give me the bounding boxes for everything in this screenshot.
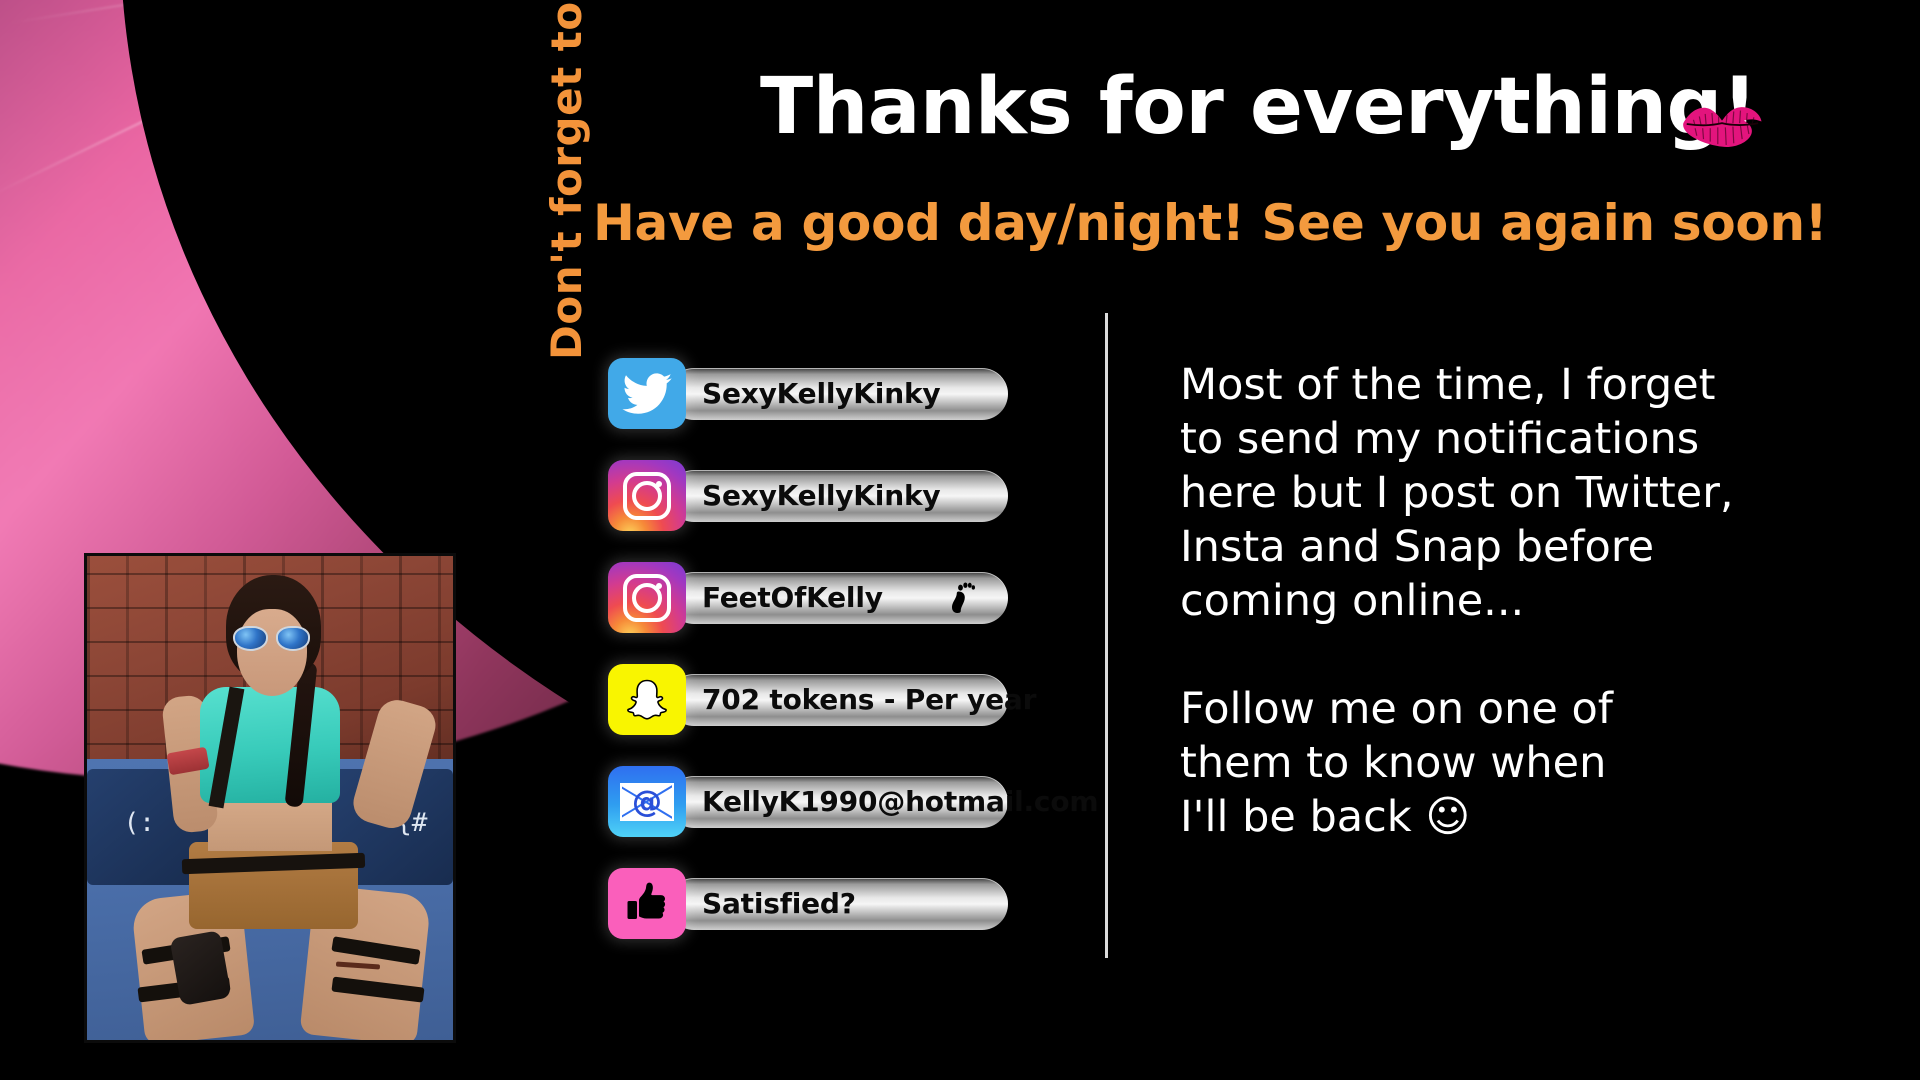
social-row-email[interactable]: @ KellyK1990@hotmail.com — [608, 766, 1028, 837]
instagram-feet-pill[interactable]: FeetOfKelly — [668, 572, 1008, 624]
thumbs-up-icon[interactable] — [608, 868, 686, 939]
vertical-divider — [1105, 313, 1108, 958]
social-links-list: SexyKellyKinky SexyKellyKinky FeetOfKell… — [608, 358, 1028, 970]
page-subtitle: Have a good day/night! See you again soo… — [593, 198, 1827, 248]
instagram-icon[interactable] — [608, 460, 686, 531]
instagram-camera-glyph — [623, 574, 671, 622]
social-row-twitter[interactable]: SexyKellyKinky — [608, 358, 1028, 429]
social-row-satisfied[interactable]: Satisfied? — [608, 868, 1028, 939]
instagram-handle-label: SexyKellyKinky — [668, 479, 940, 512]
message-line-3: here but I post on Twitter, — [1180, 466, 1760, 520]
message-line-2: to send my notifications — [1180, 412, 1760, 466]
sunglasses-lens-right — [276, 626, 311, 651]
lips-kiss-icon — [1680, 96, 1764, 152]
thumbs-up-glyph — [626, 882, 668, 926]
message-paragraph-gap — [1180, 628, 1760, 682]
message-line-8: I'll be back ☺ — [1180, 790, 1760, 844]
twitter-icon[interactable] — [608, 358, 686, 429]
page-title: Thanks for everything! — [760, 68, 1757, 146]
satisfied-pill[interactable]: Satisfied? — [668, 878, 1008, 930]
twitter-handle-label: SexyKellyKinky — [668, 377, 940, 410]
snapchat-icon[interactable] — [608, 664, 686, 735]
instagram-feet-label: FeetOfKelly — [668, 581, 883, 614]
email-icon[interactable]: @ — [608, 766, 686, 837]
social-row-snapchat[interactable]: 702 tokens - Per year — [608, 664, 1028, 735]
snapchat-ghost-glyph — [625, 678, 669, 722]
message-line-1: Most of the time, I forget — [1180, 358, 1760, 412]
twitter-handle-pill[interactable]: SexyKellyKinky — [668, 368, 1008, 420]
message-line-6: Follow me on one of — [1180, 682, 1760, 736]
twitter-bird-glyph — [621, 372, 673, 416]
message-line-7: them to know when — [1180, 736, 1760, 790]
follow-vertical-label: Don't forget to follow — [542, 0, 591, 360]
message-block: Most of the time, I forget to send my no… — [1180, 358, 1760, 844]
footprint-icon — [950, 582, 976, 614]
sunglasses-lens-left — [233, 626, 268, 651]
instagram-camera-glyph — [623, 472, 671, 520]
model-midriff — [208, 798, 332, 851]
instagram-icon[interactable] — [608, 562, 686, 633]
envelope-glyph: @ — [620, 783, 674, 821]
message-line-4: Insta and Snap before — [1180, 520, 1760, 574]
slide-canvas: Thanks for everything! Have a good day/n… — [0, 0, 1920, 1080]
email-address-label: KellyK1990@hotmail.com — [668, 785, 1098, 818]
satisfied-label: Satisfied? — [668, 887, 856, 920]
snapchat-tokens-pill[interactable]: 702 tokens - Per year — [668, 674, 1008, 726]
at-symbol-glyph: @ — [632, 784, 662, 819]
webcam-model-photo: (: {# — [84, 553, 456, 1043]
social-row-instagram-main[interactable]: SexyKellyKinky — [608, 460, 1028, 531]
social-row-instagram-feet[interactable]: FeetOfKelly — [608, 562, 1028, 633]
model-face — [237, 609, 307, 696]
pillow-left-text: (: — [124, 808, 155, 838]
instagram-handle-pill[interactable]: SexyKellyKinky — [668, 470, 1008, 522]
sunglasses-icon — [233, 626, 310, 651]
email-address-pill[interactable]: KellyK1990@hotmail.com — [668, 776, 1008, 828]
message-line-5: coming online... — [1180, 574, 1760, 628]
snapchat-tokens-label: 702 tokens - Per year — [668, 683, 1036, 716]
